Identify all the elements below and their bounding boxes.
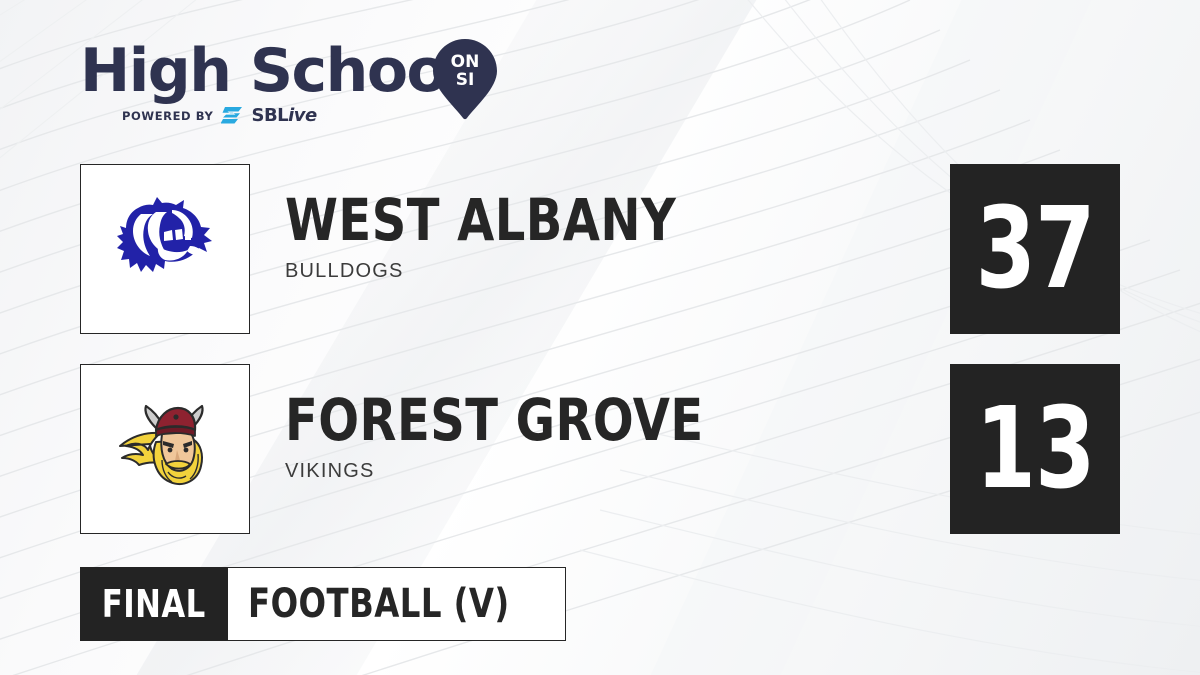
team-text-block: FOREST GROVE VIKINGS — [285, 390, 905, 483]
team-logo-box — [80, 364, 250, 534]
team-score: 37 — [976, 193, 1095, 305]
sport-label: FOOTBALL (V) — [248, 584, 510, 624]
team-logo-box — [80, 164, 250, 334]
team-score: 13 — [976, 393, 1095, 505]
team-score-box: 13 — [950, 364, 1120, 534]
status-badge-label: FINAL — [102, 585, 206, 623]
pin-text-si: SI — [456, 70, 475, 90]
team-mascot: BULLDOGS — [285, 260, 905, 283]
on-si-pin-icon: ON SI — [432, 38, 498, 120]
team-mascot: VIKINGS — [285, 460, 905, 483]
sblive-italic: ive — [288, 105, 317, 126]
sport-label-box: FOOTBALL (V) — [228, 567, 566, 641]
sblive-s-icon — [221, 107, 243, 125]
viking-logo-icon — [100, 384, 230, 514]
team-name: FOREST GROVE — [285, 390, 855, 450]
pin-text-on: ON — [451, 52, 480, 72]
bulldog-logo-icon — [100, 184, 230, 314]
team-name: WEST ALBANY — [285, 190, 855, 250]
sblive-wordmark: SBLive — [251, 107, 316, 125]
team-text-block: WEST ALBANY BULLDOGS — [285, 190, 905, 283]
sblive-bold: SBL — [251, 105, 288, 126]
powered-by-label: POWERED BY — [122, 109, 213, 123]
team-score-box: 37 — [950, 164, 1120, 334]
powered-by-row: POWERED BY SBLive — [122, 107, 317, 125]
scoreboard-graphic: High School ON SI POWERED BY SBLive — [0, 0, 1200, 675]
game-status-bar: FINAL FOOTBALL (V) — [80, 567, 566, 641]
status-badge: FINAL — [80, 567, 228, 641]
